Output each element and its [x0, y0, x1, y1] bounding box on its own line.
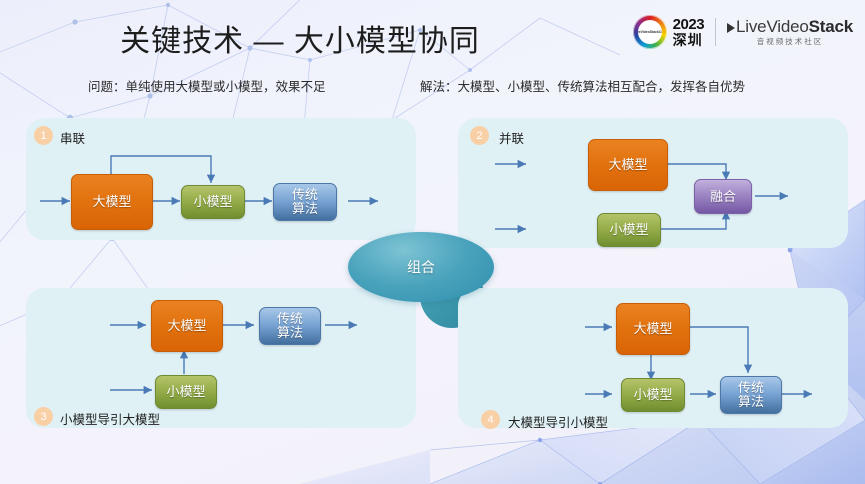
node-small-model-q4[interactable]: 小模型	[621, 378, 685, 412]
node-fusion-q2[interactable]: 融合	[694, 179, 752, 214]
quadrant-badge-3: 3	[34, 407, 53, 426]
node-label-line1: 传统	[277, 312, 303, 326]
brand-name: LiveVideoStack	[727, 18, 853, 35]
node-big-model-q4[interactable]: 大模型	[616, 303, 690, 355]
subtitle-solution: 解法：大模型、小模型、传统算法相互配合，发挥各自优势	[420, 76, 745, 95]
subtitle-problem: 问题：单纯使用大模型或小模型，效果不足	[88, 76, 326, 95]
livevideostack-wordmark: LiveVideoStack 音视频技术社区	[727, 18, 853, 46]
quadrant-label-4: 大模型导引小模型	[508, 412, 608, 431]
node-label-line2: 算法	[292, 202, 318, 216]
node-label: 大模型	[92, 195, 131, 209]
logo-year: 2023	[673, 17, 704, 32]
node-label: 小模型	[166, 385, 205, 399]
node-big-model-q2[interactable]: 大模型	[588, 139, 668, 191]
node-label: 小模型	[193, 195, 232, 209]
node-label-line1: 传统	[292, 188, 318, 202]
play-triangle-icon	[727, 23, 735, 33]
node-label-line2: 算法	[277, 326, 303, 340]
node-small-model-q2[interactable]: 小模型	[597, 213, 661, 247]
quadrant-label-3: 小模型导引大模型	[60, 409, 160, 428]
center-combine-node[interactable]: 组合	[348, 232, 494, 302]
node-label: 大模型	[608, 158, 647, 172]
brand-slogan: 音视频技术社区	[727, 38, 853, 46]
node-label: 小模型	[633, 388, 672, 402]
quadrant-badge-1: 1	[34, 126, 53, 145]
node-algorithm-q4[interactable]: 传统 算法	[720, 376, 782, 414]
node-label-line1: 传统	[738, 381, 764, 395]
logo-year-city: 2023 深圳	[673, 17, 704, 47]
conference-logo: LiveVideoStackCon 2023 深圳 LiveVideoStack…	[633, 14, 853, 50]
page-title: 关键技术 — 大小模型协同	[0, 16, 600, 60]
quadrant-badge-4: 4	[481, 410, 500, 429]
node-label-line2: 算法	[738, 395, 764, 409]
slide-canvas: 关键技术 — 大小模型协同 问题：单纯使用大模型或小模型，效果不足 解法：大模型…	[0, 0, 865, 484]
center-label: 组合	[407, 257, 435, 277]
node-label: 小模型	[609, 223, 648, 237]
brand-video: Video	[766, 17, 808, 36]
livevideostackcon-badge-icon: LiveVideoStackCon	[633, 15, 667, 49]
quadrant-badge-2: 2	[470, 126, 489, 145]
logo-divider	[715, 18, 716, 46]
node-algorithm-q3[interactable]: 传统 算法	[259, 307, 321, 345]
node-small-model-q1[interactable]: 小模型	[181, 185, 245, 219]
node-small-model-q3[interactable]: 小模型	[155, 375, 217, 409]
badge-inner-text: LiveVideoStackCon	[638, 20, 662, 44]
node-label: 大模型	[633, 322, 672, 336]
brand-stack: Stack	[809, 17, 853, 36]
node-algorithm-q1[interactable]: 传统 算法	[273, 183, 337, 221]
quadrant-label-1: 串联	[60, 128, 85, 147]
node-big-model-q3[interactable]: 大模型	[151, 300, 223, 352]
node-label: 融合	[710, 190, 736, 204]
brand-live: Live	[736, 17, 766, 36]
quadrant-label-2: 并联	[499, 128, 524, 147]
logo-city: 深圳	[673, 33, 704, 47]
node-label: 大模型	[167, 319, 206, 333]
node-big-model-q1[interactable]: 大模型	[71, 174, 153, 230]
